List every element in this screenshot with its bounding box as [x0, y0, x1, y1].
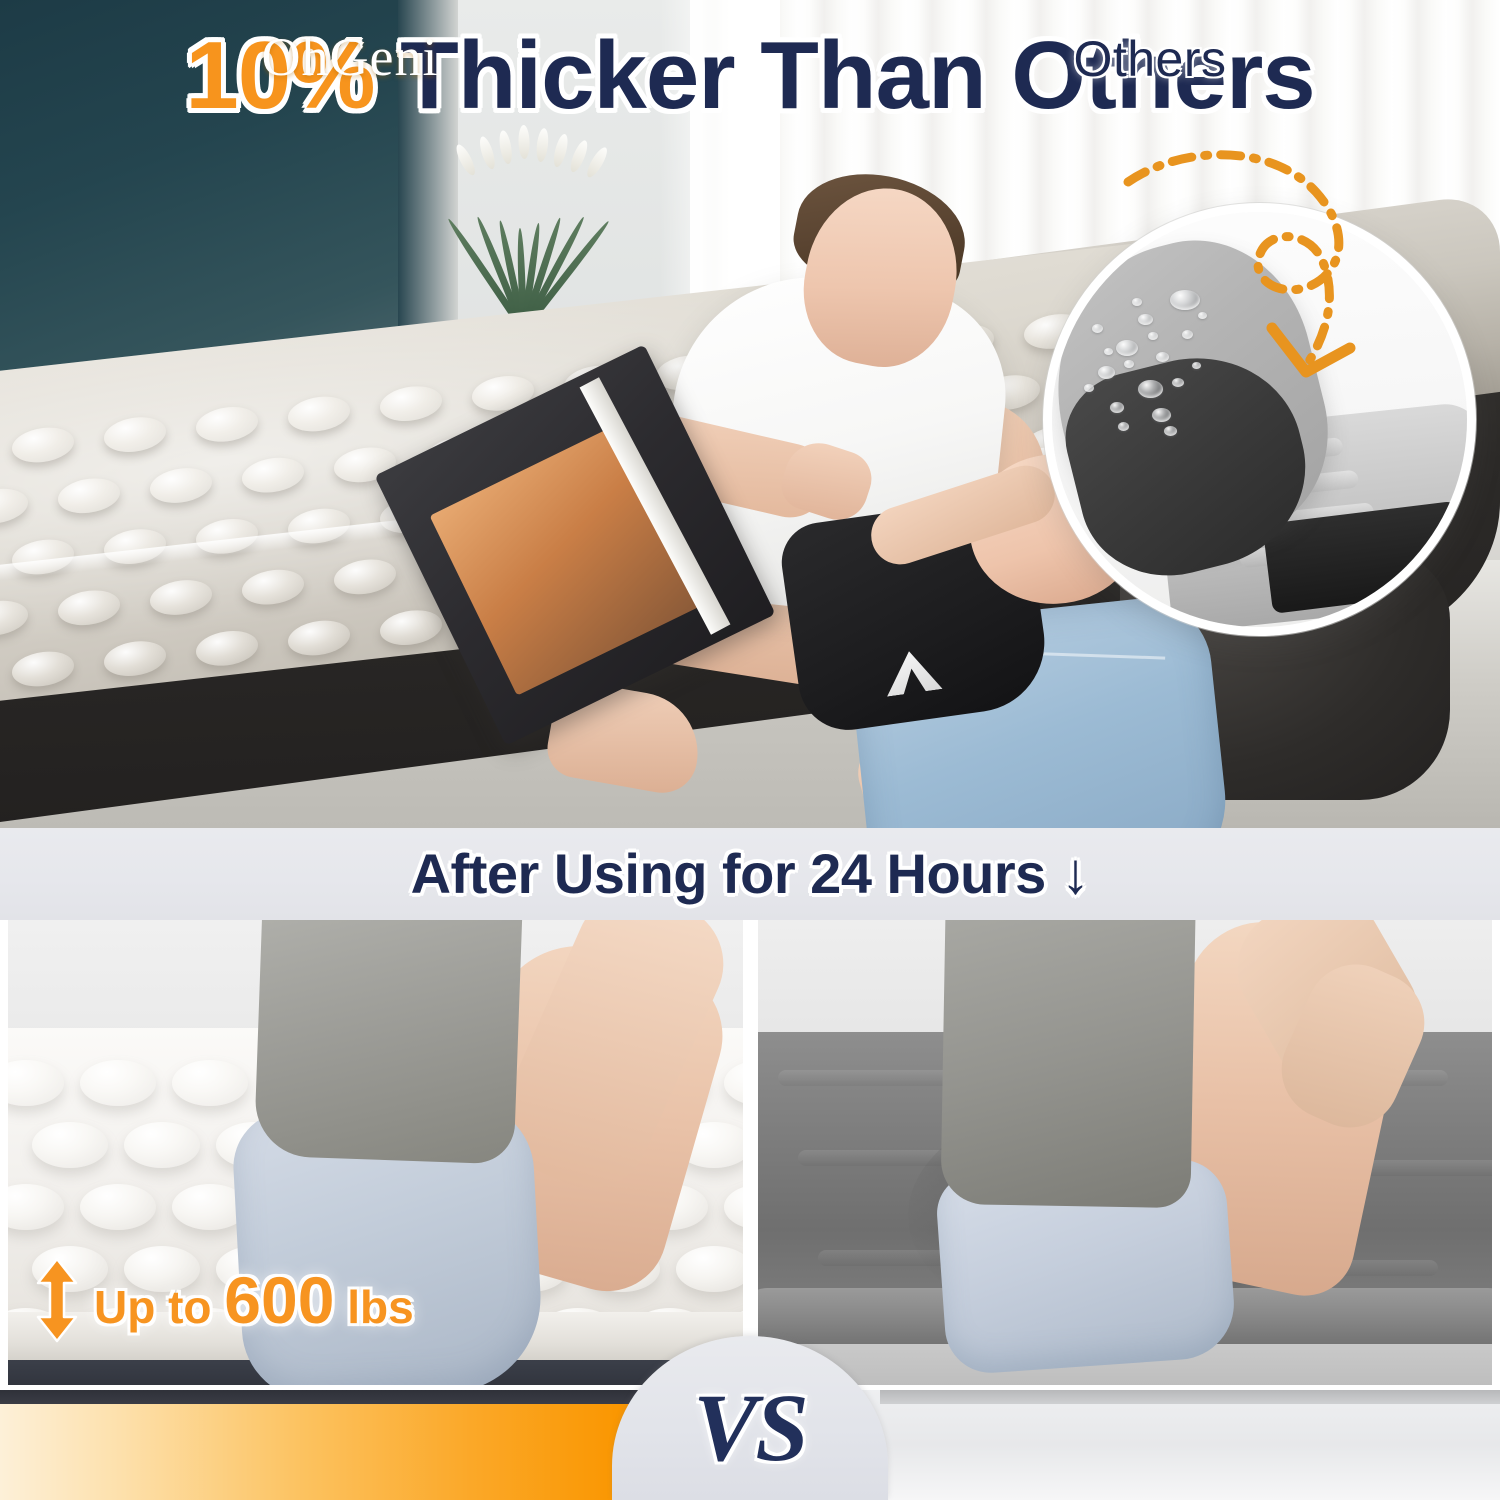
coil-dimple — [12, 648, 74, 689]
coil-dimple — [172, 1060, 248, 1106]
coil-dimple — [32, 1122, 108, 1168]
coil-dimple — [58, 475, 120, 516]
person-sitting-right — [933, 920, 1403, 1336]
badge-prefix: Up to — [94, 1281, 224, 1333]
coil-dimple — [104, 414, 166, 455]
plant-flower-pod — [453, 142, 478, 177]
bar-top-strip-left — [0, 1390, 640, 1404]
badge-suffix: lbs — [334, 1281, 413, 1333]
vs-label: VS — [612, 1372, 888, 1483]
coil-dimple — [104, 638, 166, 679]
plant-flower-pod — [518, 125, 530, 159]
orange-curved-arrow-icon — [1120, 140, 1420, 430]
coil-dimple — [80, 1060, 156, 1106]
coil-dimple — [242, 455, 304, 496]
panel-others — [758, 920, 1492, 1390]
coil-dimple — [150, 465, 212, 506]
coil-dimple — [334, 556, 396, 597]
coil-dimple — [676, 1246, 743, 1292]
coil-dimple — [80, 1184, 156, 1230]
mid-banner-label: After Using for 24 Hours — [411, 842, 1046, 905]
coil-dimple — [380, 607, 442, 648]
right-person-grey-shirt — [940, 920, 1195, 1208]
coil-dimple — [124, 1122, 200, 1168]
down-arrow-icon: ↓ — [1061, 841, 1090, 906]
bar-top-strip-right — [880, 1390, 1500, 1404]
water-droplet — [1104, 348, 1113, 355]
coil-dimple — [58, 587, 120, 628]
coil-dimple — [242, 567, 304, 608]
water-droplet — [1098, 366, 1115, 379]
double-arrow-vertical-icon — [34, 1257, 80, 1343]
product-infographic: 10% Thicker Than Others After Using for … — [0, 0, 1500, 1500]
water-droplet — [1092, 324, 1103, 333]
coil-dimple — [0, 598, 28, 639]
coil-dimple — [150, 577, 212, 618]
coil-dimple — [724, 1184, 743, 1230]
coil-dimple — [288, 618, 350, 659]
badge-value: 600 — [224, 1263, 334, 1337]
plant-flower-pod — [551, 133, 570, 169]
coil-dimple — [8, 1184, 64, 1230]
plant-flower-pod — [497, 130, 514, 165]
others-label: Others — [800, 30, 1500, 88]
plant-flower-pod — [477, 135, 498, 171]
weight-capacity-badge: Up to 600 lbs — [34, 1252, 454, 1348]
water-droplet — [1084, 384, 1094, 392]
coil-dimple — [12, 424, 74, 465]
tshirt-logo — [881, 647, 942, 696]
plant-flower-pod — [535, 128, 550, 163]
coil-dimple — [8, 1060, 64, 1106]
book-page-illustration — [429, 424, 705, 696]
left-person-grey-shirt — [254, 920, 523, 1164]
weight-capacity-text: Up to 600 lbs — [94, 1262, 414, 1338]
coil-dimple — [196, 404, 258, 445]
coil-dimple — [724, 1060, 743, 1106]
coil-dimple — [288, 394, 350, 435]
coil-dimple — [196, 628, 258, 669]
mid-banner-title: After Using for 24 Hours ↓ — [0, 840, 1500, 907]
brand-name-label: OhGeni — [0, 26, 700, 88]
hero-lifestyle-photo: 10% Thicker Than Others — [0, 0, 1500, 828]
coil-dimple — [380, 383, 442, 424]
coil-dimple — [0, 486, 28, 527]
